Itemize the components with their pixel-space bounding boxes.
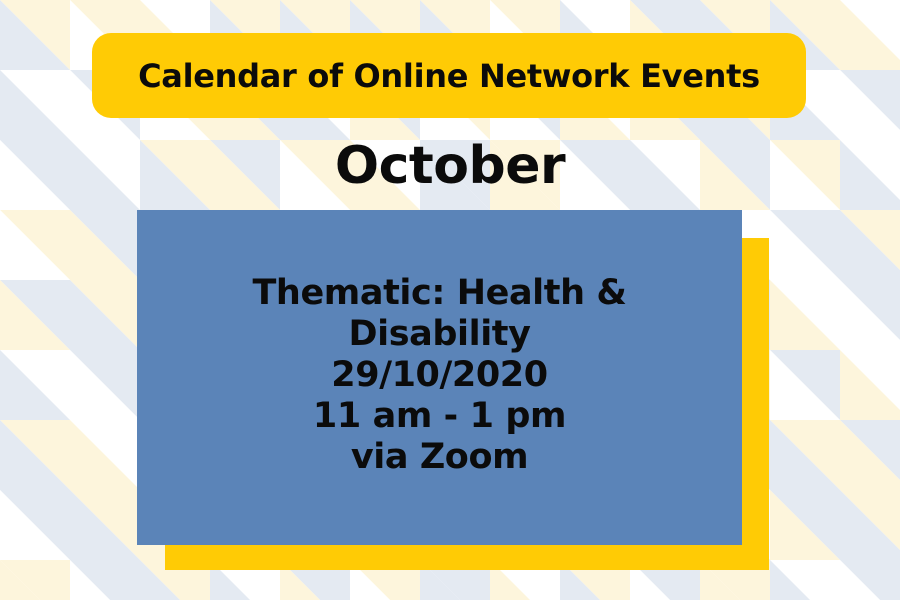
month-heading: October bbox=[0, 140, 900, 192]
poster-canvas: Thematic: Health & Disability 29/10/2020… bbox=[0, 0, 900, 600]
event-card-line-platform: via Zoom bbox=[351, 437, 528, 478]
title-banner: Calendar of Online Network Events bbox=[92, 33, 806, 118]
event-card-line-time: 11 am - 1 pm bbox=[313, 396, 566, 437]
title-banner-label: Calendar of Online Network Events bbox=[138, 60, 760, 92]
event-card-line-topic: Thematic: Health & Disability bbox=[230, 273, 650, 355]
event-card: Thematic: Health & Disability 29/10/2020… bbox=[137, 210, 742, 545]
event-card-line-date: 29/10/2020 bbox=[331, 355, 547, 396]
